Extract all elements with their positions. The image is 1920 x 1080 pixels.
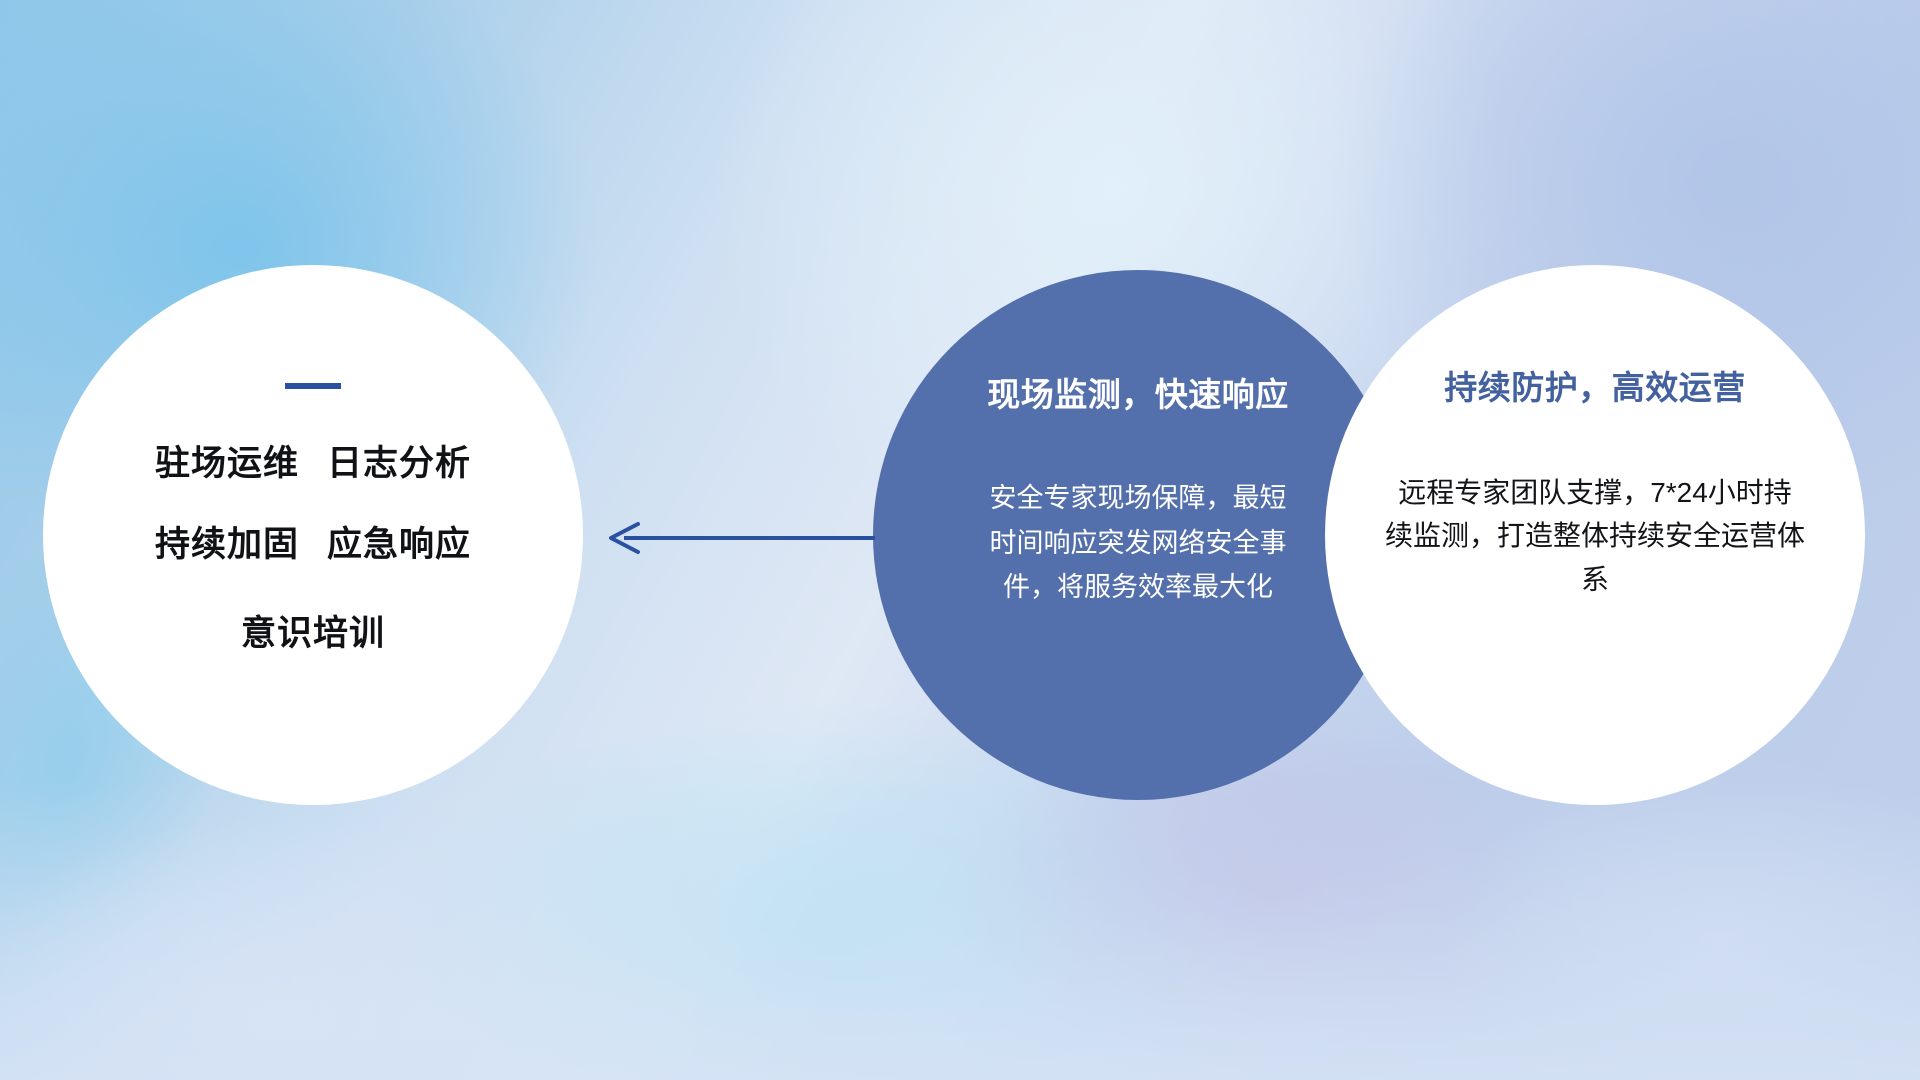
service-item-emergency-response[interactable]: 应急响应 [327,525,471,564]
service-item-onsite-ops[interactable]: 驻场运维 [155,444,299,483]
service-item-log-analysis[interactable]: 日志分析 [327,444,471,483]
on-site-monitoring-body: 安全专家现场保障，最短时间响应突发网络安全事件，将服务效率最大化 [983,476,1293,610]
background-bottom-wash [0,780,1920,1080]
services-list: 驻场运维日志分析 持续加固应急响应 意识培训 [155,435,471,656]
continuous-protection-body: 远程专家团队支撑，7*24小时持续监测，打造整体持续安全运营体系 [1385,471,1805,601]
services-row-3: 意识培训 [241,605,385,656]
services-row-2: 持续加固应急响应 [155,516,471,567]
service-item-awareness-training[interactable]: 意识培训 [241,614,385,653]
accent-dash-divider [285,383,341,389]
slide-canvas: 驻场运维日志分析 持续加固应急响应 意识培训 现场监测，快速响应 安全专家现场保… [0,0,1920,1080]
services-row-1: 驻场运维日志分析 [155,435,471,486]
continuous-protection-title: 持续防护，高效运营 [1444,361,1746,409]
services-circle-content: 驻场运维日志分析 持续加固应急响应 意识培训 [43,265,583,805]
service-item-continuous-hardening[interactable]: 持续加固 [155,525,299,564]
flow-arrow-left-icon [600,516,880,560]
continuous-protection-content: 持续防护，高效运营 远程专家团队支撑，7*24小时持续监测，打造整体持续安全运营… [1325,265,1865,805]
on-site-monitoring-title: 现场监测，快速响应 [987,368,1289,416]
